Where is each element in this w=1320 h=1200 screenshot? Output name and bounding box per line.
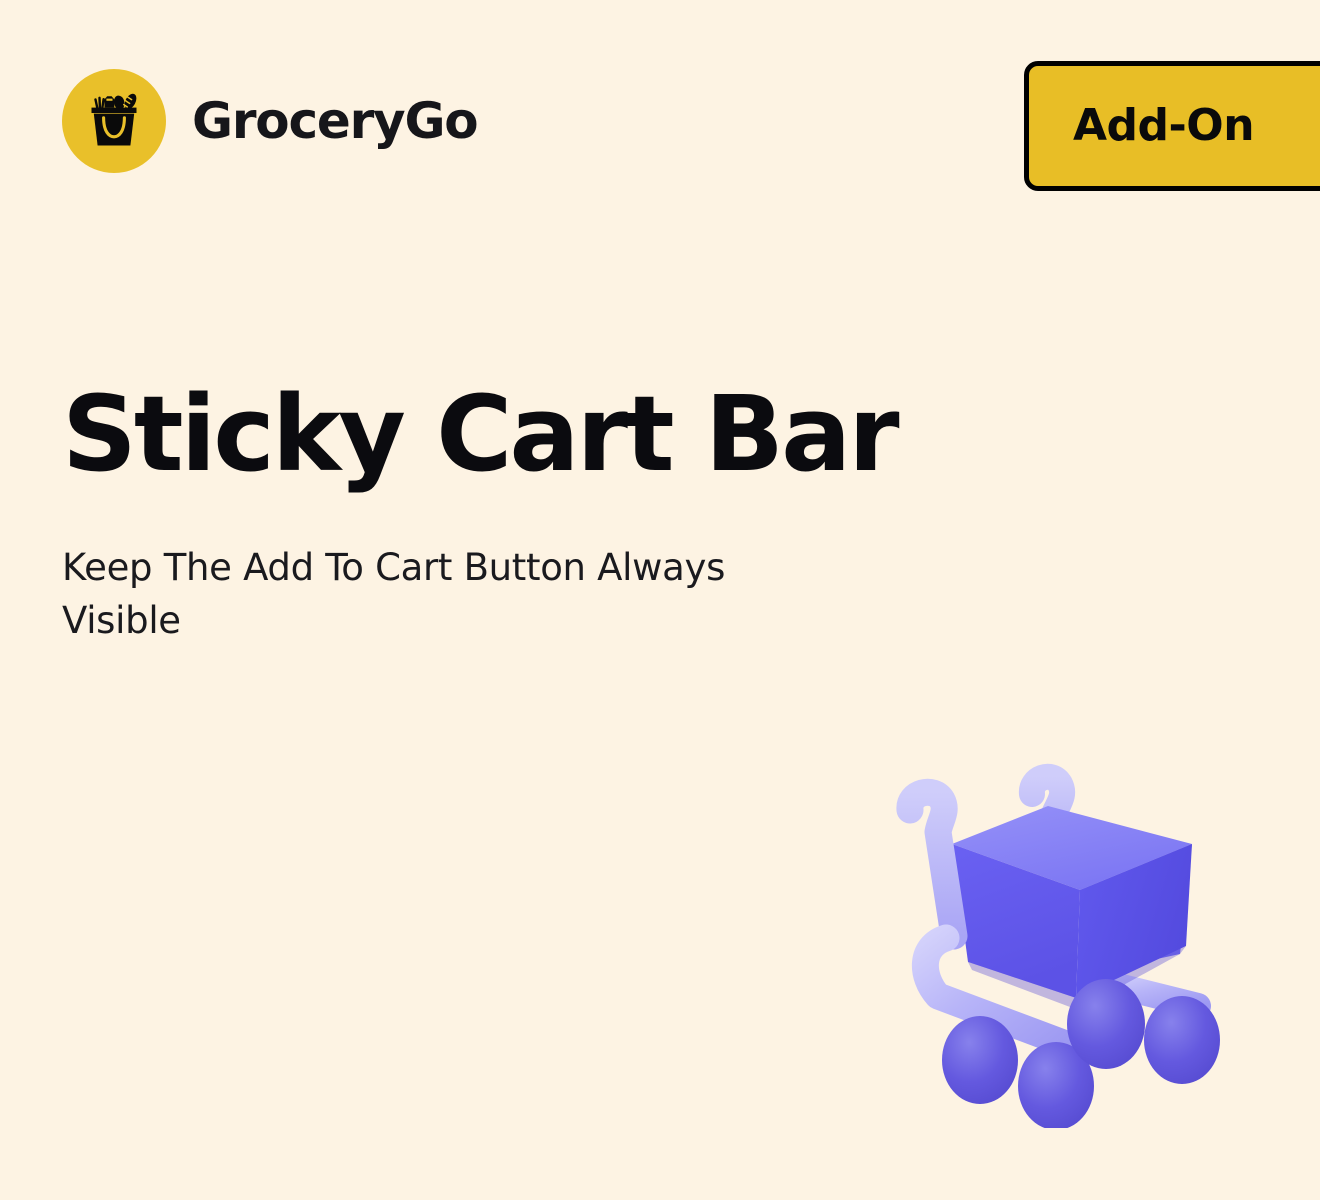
hero-section: Sticky Cart Bar Keep The Add To Cart But… bbox=[62, 380, 992, 647]
shopping-cart-3d-illustration bbox=[880, 748, 1230, 1128]
page-subtitle: Keep The Add To Cart Button Always Visib… bbox=[62, 542, 852, 647]
page-header: GroceryGo Add-On bbox=[0, 0, 1320, 215]
page-root: GroceryGo Add-On Sticky Cart Bar Keep Th… bbox=[0, 0, 1320, 1200]
add-on-badge[interactable]: Add-On bbox=[1024, 61, 1320, 191]
brand-logo[interactable]: GroceryGo bbox=[62, 69, 477, 173]
add-on-badge-label: Add-On bbox=[1073, 104, 1254, 148]
page-title: Sticky Cart Bar bbox=[62, 380, 992, 488]
grocery-basket-icon bbox=[62, 69, 166, 173]
brand-name: GroceryGo bbox=[192, 96, 477, 146]
